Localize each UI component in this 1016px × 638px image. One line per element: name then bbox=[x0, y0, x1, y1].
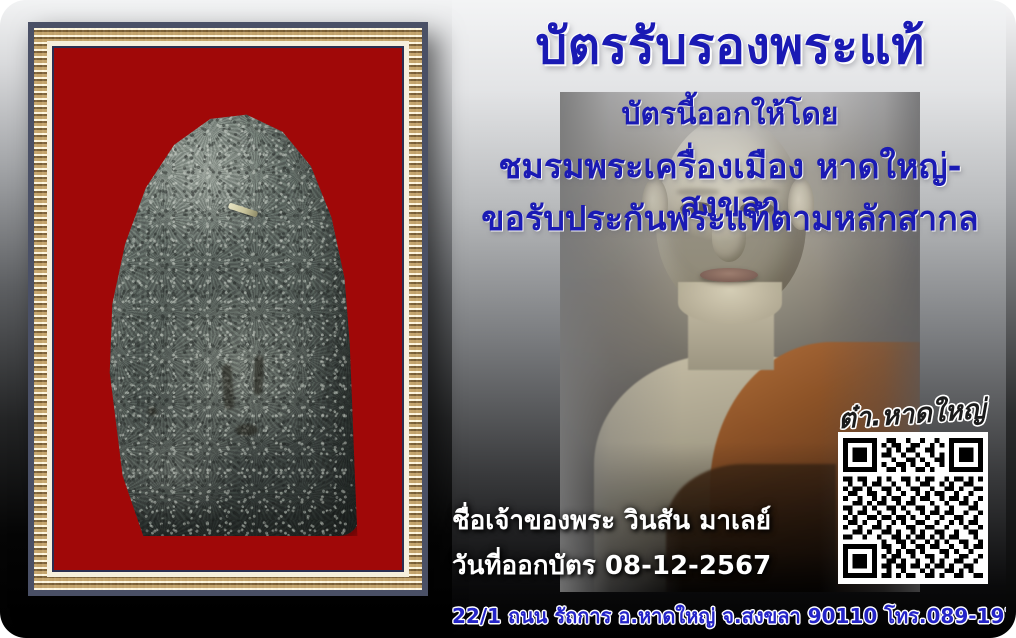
issue-date-line: วันที่ออกบัตร 08-12-2567 bbox=[452, 545, 771, 586]
amulet-grain-texture bbox=[102, 106, 360, 536]
certification-card: บัตรรับรองพระแท้ บัตรนี้ออกให้โดย ชมรมพร… bbox=[0, 0, 1016, 638]
stone-amulet bbox=[102, 106, 360, 536]
frame-red-backing bbox=[54, 48, 402, 570]
owner-name-line: ชื่อเจ้าของพระ วินสัน มาเลย์ bbox=[452, 500, 771, 541]
qr-code-icon[interactable] bbox=[838, 432, 988, 584]
qr-code-svg bbox=[843, 437, 983, 579]
guarantee-statement: ขอรับประกันพระแท้ตามหลักสากล bbox=[452, 200, 1008, 238]
card-right-edge bbox=[1006, 0, 1016, 638]
page-title: บัตรรับรองพระแท้ bbox=[452, 20, 1008, 73]
footer-address: 22/1 ถนน รัถการ อ.หาดใหญ่ จ.สงขลา 90110 … bbox=[452, 600, 1004, 632]
card-subtitle: บัตรนี้ออกให้โดย bbox=[452, 98, 1008, 132]
picture-frame bbox=[28, 22, 428, 596]
